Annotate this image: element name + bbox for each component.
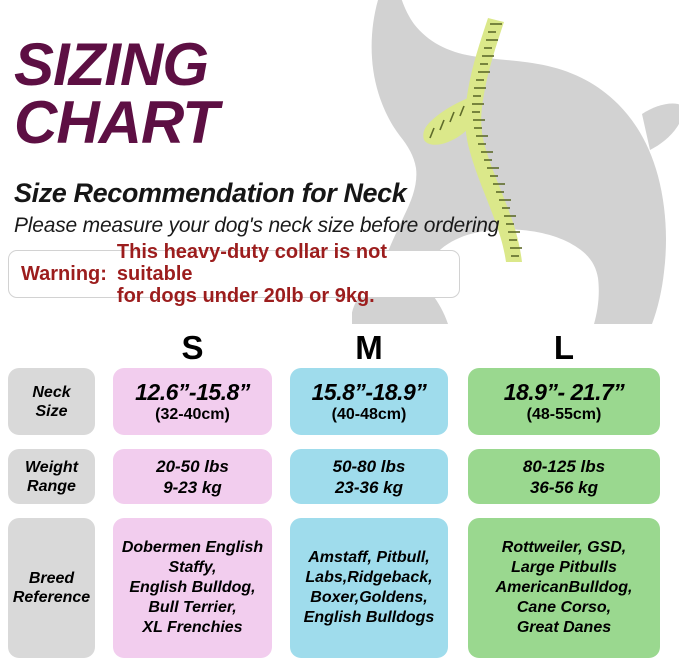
cell-neck-size-m-inches: 15.8”-18.9” xyxy=(312,380,427,405)
row-label-breed-reference: Breed Reference xyxy=(8,518,95,658)
cell-neck-size-l: 18.9”- 21.7” (48-55cm) xyxy=(468,368,660,435)
cell-breed-reference-m: Amstaff, Pitbull, Labs,Ridgeback, Boxer,… xyxy=(290,518,448,658)
cell-neck-size-l-inches: 18.9”- 21.7” xyxy=(504,380,625,405)
title-line-chart: CHART xyxy=(14,94,484,152)
row-label-neck-size: Neck Size xyxy=(8,368,95,435)
cell-neck-size-m-cm: (40-48cm) xyxy=(332,405,407,424)
cell-neck-size-l-cm: (48-55cm) xyxy=(527,405,602,424)
cell-neck-size-s-inches: 12.6”-15.8” xyxy=(135,380,250,405)
warning-message: This heavy-duty collar is not suitable f… xyxy=(107,241,459,307)
cell-neck-size-s: 12.6”-15.8” (32-40cm) xyxy=(113,368,272,435)
cell-weight-range-s: 20-50 lbs 9-23 kg xyxy=(113,449,272,504)
page-title: SIZING CHART xyxy=(14,36,484,152)
table-row-neck-size: Neck Size 12.6”-15.8” (32-40cm) 15.8”-18… xyxy=(0,368,679,435)
warning-box: Warning: This heavy-duty collar is not s… xyxy=(8,250,460,298)
cell-breed-reference-l: Rottweiler, GSD, Large Pitbulls American… xyxy=(468,518,660,658)
row-label-weight-range: Weight Range xyxy=(8,449,95,504)
title-line-sizing: SIZING xyxy=(14,36,484,94)
size-table: S M L Neck Size 12.6”-15.8” (32-40cm) 15… xyxy=(0,330,679,672)
size-header-l: L xyxy=(468,330,660,366)
table-row-weight-range: Weight Range 20-50 lbs 9-23 kg 50-80 lbs… xyxy=(0,449,679,504)
sizing-chart-page: SIZING CHART Size Recommendation for Nec… xyxy=(0,0,679,672)
size-header-m: M xyxy=(290,330,448,366)
subtitle: Size Recommendation for Neck xyxy=(14,178,406,208)
size-header-s: S xyxy=(113,330,272,366)
size-header-row: S M L xyxy=(0,330,679,368)
cell-weight-range-l: 80-125 lbs 36-56 kg xyxy=(468,449,660,504)
cell-breed-reference-s: Dobermen English Staffy, English Bulldog… xyxy=(113,518,272,658)
cell-neck-size-s-cm: (32-40cm) xyxy=(155,405,230,424)
warning-label: Warning: xyxy=(9,263,107,286)
table-row-breed-reference: Breed Reference Dobermen English Staffy,… xyxy=(0,518,679,658)
cell-neck-size-m: 15.8”-18.9” (40-48cm) xyxy=(290,368,448,435)
cell-weight-range-m: 50-80 lbs 23-36 kg xyxy=(290,449,448,504)
instruction-text: Please measure your dog's neck size befo… xyxy=(14,213,499,238)
